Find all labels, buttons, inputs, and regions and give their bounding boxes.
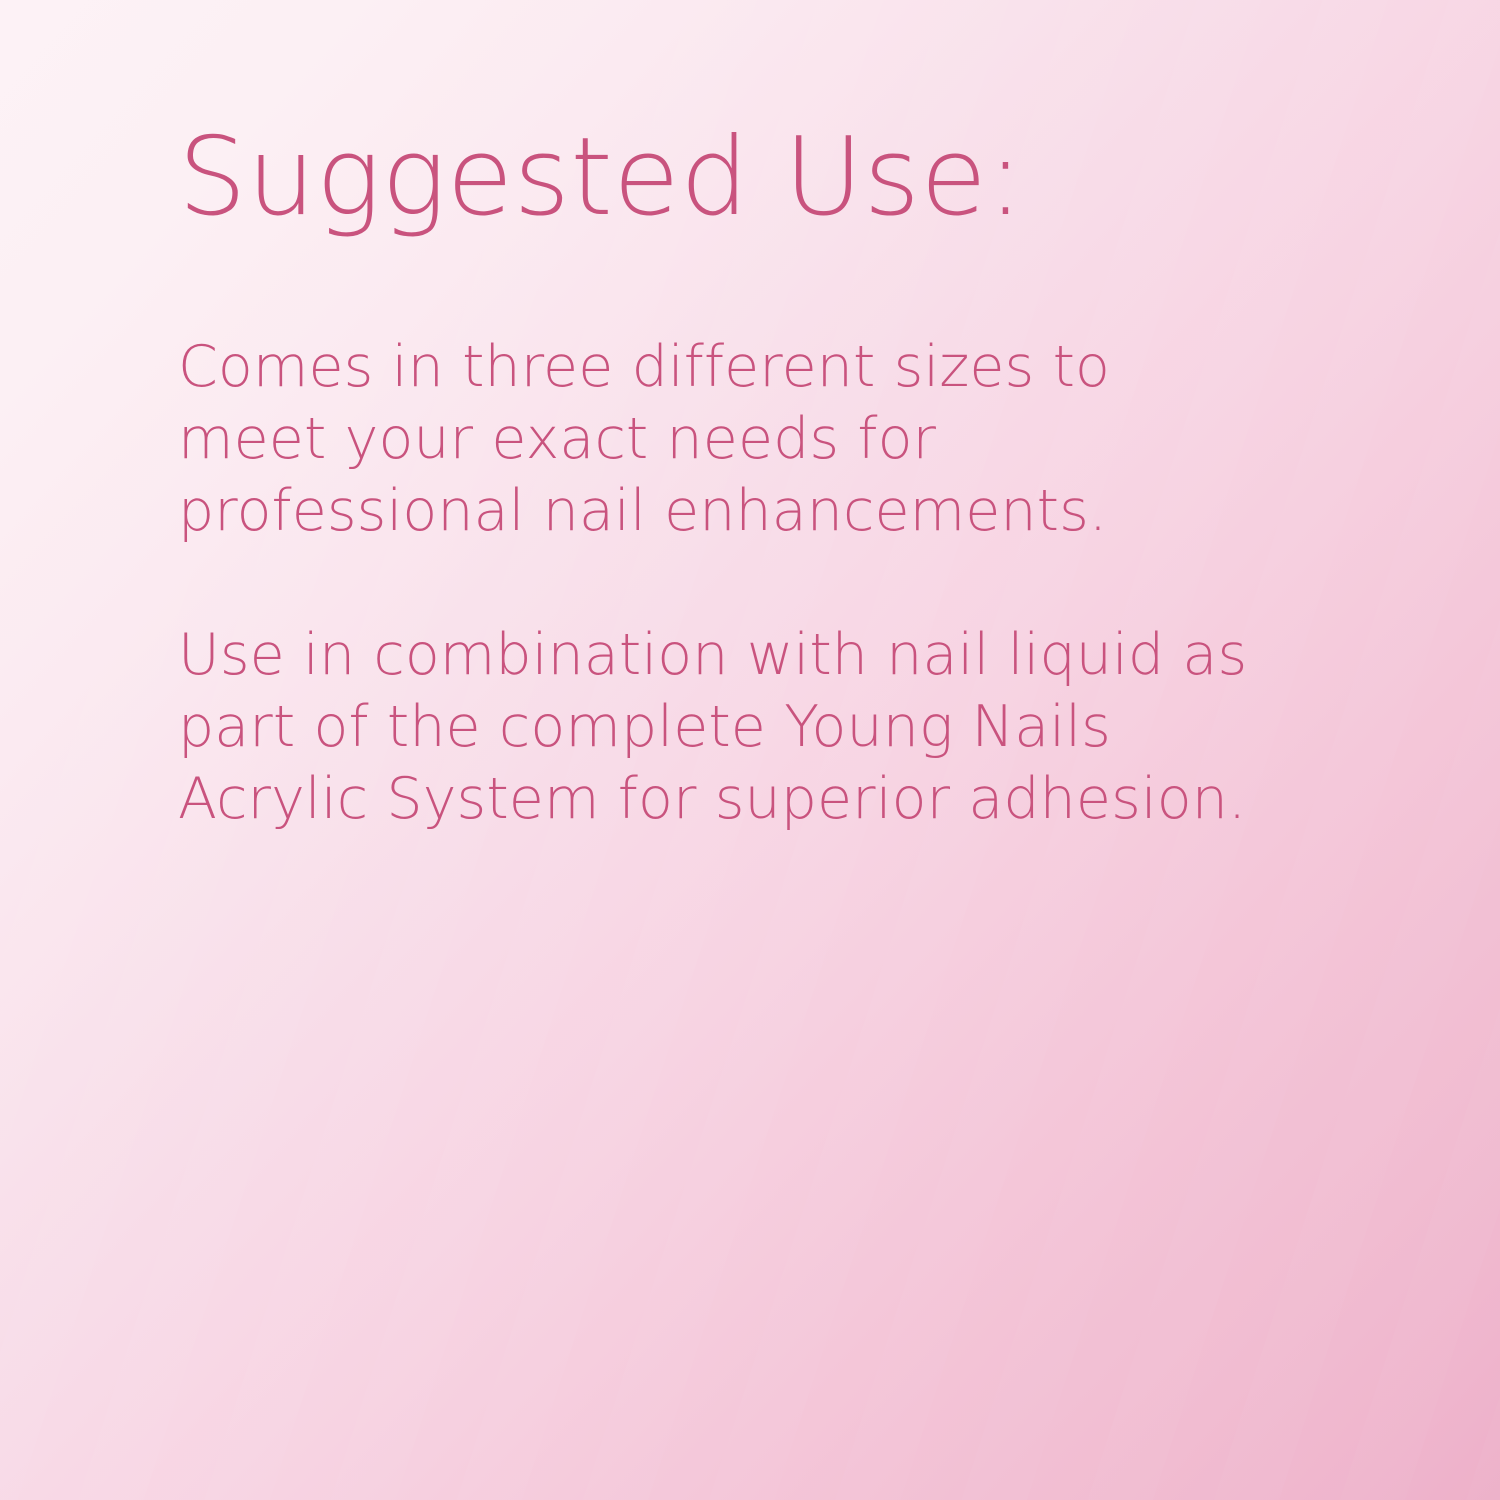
suggested-use-card: Suggested Use: Comes in three different … (0, 0, 1500, 1500)
content-block: Suggested Use: Comes in three different … (178, 118, 1288, 835)
description-paragraph-1: Comes in three different sizes to meet y… (178, 331, 1263, 547)
page-title: Suggested Use: (178, 118, 1288, 239)
body-text-block: Comes in three different sizes to meet y… (178, 331, 1263, 835)
description-paragraph-2: Use in combination with nail liquid as p… (178, 619, 1263, 835)
